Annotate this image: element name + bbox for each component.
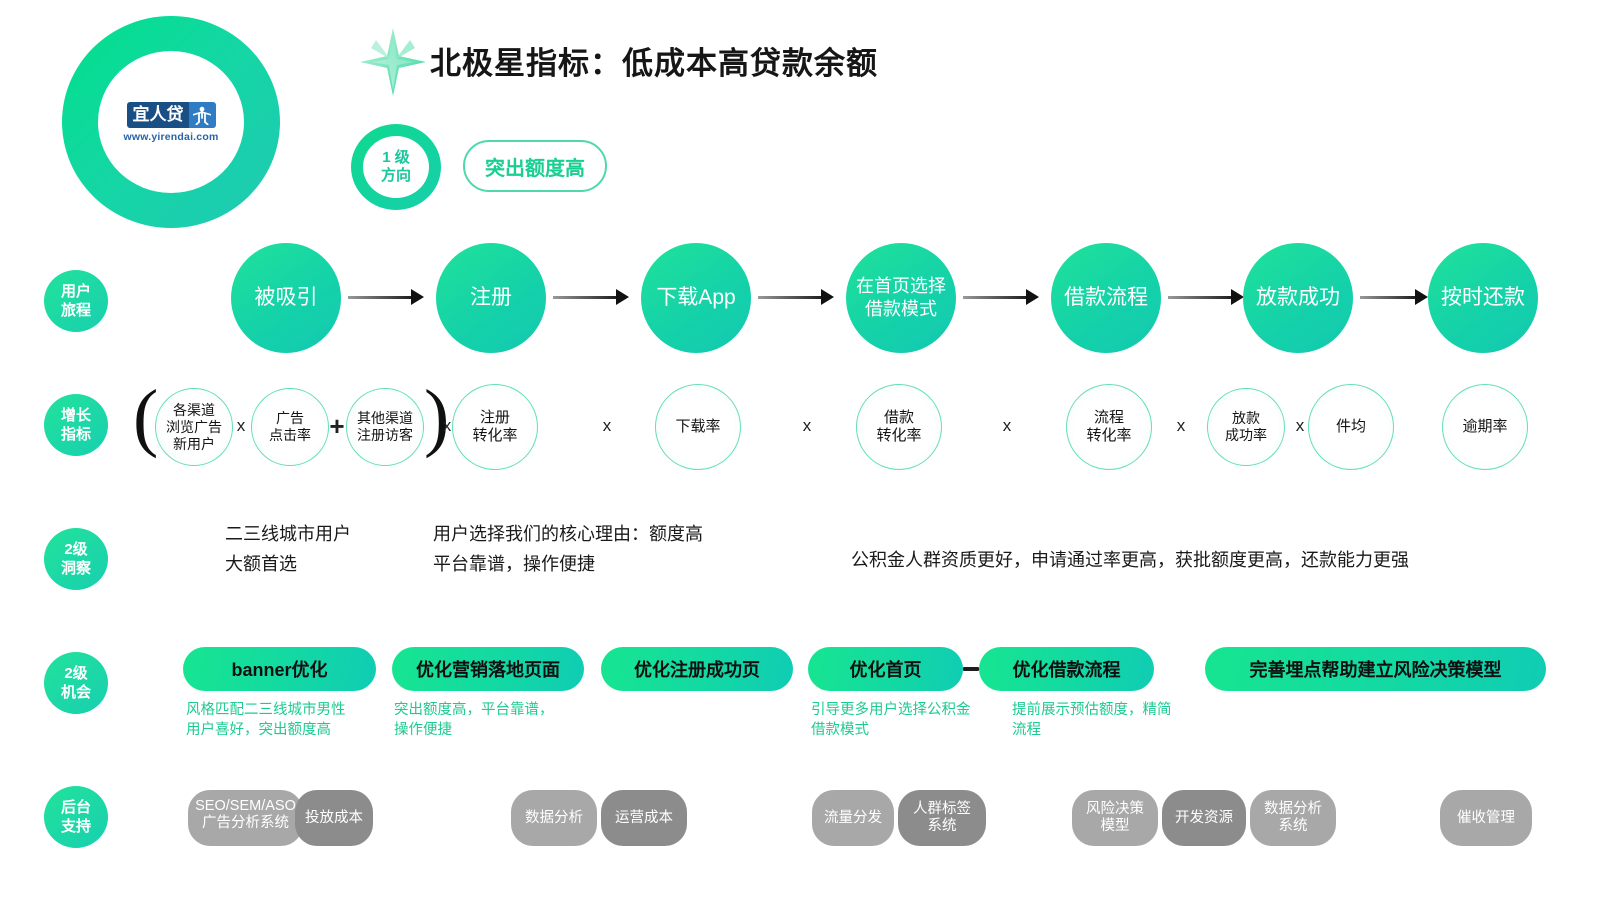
bracket-open: ( [133,386,158,448]
journey-arrow-1 [348,293,424,301]
opportunity-note-1: 风格匹配二三线城市男性 用户喜好，突出额度高 [186,700,386,740]
page-title: 北极星指标：低成本高贷款余额 [430,38,878,83]
support-pill-5[interactable]: 流量分发 [812,790,894,846]
journey-step-1[interactable]: 被吸引 [231,243,341,353]
row-label-journey-line2: 旅程 [61,301,91,320]
growth-metric-10[interactable]: 逾期率 [1442,384,1528,470]
opportunity-connector [963,667,979,671]
growth-metric-2[interactable]: 广告 点击率 [251,388,329,466]
growth-metric-3[interactable]: 其他渠道 注册访客 [346,388,424,466]
level1-direction-badge: 1 级 方向 [351,124,441,210]
infographic-canvas: 宜人贷 www.yirendai.com [0,0,1600,900]
growth-metric-4[interactable]: 注册 转化率 [452,384,538,470]
row-label-insight-line2: 洞察 [61,559,91,578]
person-logo-icon [189,102,216,128]
insight-1: 二三线城市用户 大额首选 [225,519,351,579]
journey-step-6[interactable]: 放款成功 [1243,243,1353,353]
opportunity-pill-4[interactable]: 优化首页 [808,647,963,691]
row-label-support-line1: 后台 [61,798,91,817]
opportunity-pill-3[interactable]: 优化注册成功页 [601,647,793,691]
level1-badge-inner: 1 级 方向 [363,136,429,198]
growth-metric-8[interactable]: 放款 成功率 [1207,388,1285,466]
journey-step-4[interactable]: 在首页选择 借款模式 [846,243,956,353]
journey-step-2[interactable]: 注册 [436,243,546,353]
journey-arrow-5 [1168,293,1244,301]
growth-metric-5[interactable]: 下载率 [655,384,741,470]
row-label-opportunity-line2: 机会 [61,683,91,702]
growth-operator-5: x [800,416,814,436]
row-label-growth: 增长 指标 [44,394,108,456]
journey-arrow-3 [758,293,834,301]
insight-2: 用户选择我们的核心理由：额度高 平台靠谱，操作便捷 [433,519,703,579]
support-pill-4[interactable]: 运营成本 [601,790,687,846]
row-label-opportunity-line1: 2级 [64,664,87,683]
support-pill-2[interactable]: 投放成本 [295,790,373,846]
row-label-journey: 用户 旅程 [44,270,108,332]
growth-operator-2: + [328,416,346,436]
row-label-insight-line1: 2级 [64,540,87,559]
brand-logo-ring: 宜人贷 www.yirendai.com [62,16,280,228]
opportunity-note-4: 引导更多用户选择公积金 借款模式 [811,700,1011,740]
row-label-journey-line1: 用户 [61,282,91,301]
support-pill-7[interactable]: 风险决策 模型 [1072,790,1158,846]
row-label-insight: 2级 洞察 [44,528,108,590]
insight-3: 公积金人群资质更好，申请通过率更高，获批额度更高，还款能力更强 [851,545,1409,575]
opportunity-note-2: 突出额度高，平台靠谱， 操作便捷 [394,700,594,740]
brand-url: www.yirendai.com [123,131,218,143]
opportunity-note-5: 提前展示预估额度，精简 流程 [1012,700,1212,740]
row-label-support-line2: 支持 [61,817,91,836]
growth-operator-4: x [600,416,614,436]
brand-logo-inner: 宜人贷 www.yirendai.com [98,51,244,193]
north-star-icon [358,26,428,98]
opportunity-pill-2[interactable]: 优化营销落地页面 [392,647,584,691]
journey-arrow-4 [963,293,1039,301]
growth-operator-7: x [1174,416,1188,436]
support-pill-8[interactable]: 开发资源 [1162,790,1246,846]
row-label-growth-line2: 指标 [61,425,91,444]
journey-arrow-6 [1360,293,1428,301]
growth-operator-6: x [1000,416,1014,436]
opportunity-pill-5[interactable]: 优化借款流程 [979,647,1154,691]
support-pill-6[interactable]: 人群标签 系统 [898,790,986,846]
row-label-support: 后台 支持 [44,786,108,848]
brand-logo-mark: 宜人贷 [127,102,216,128]
level1-direction-pill[interactable]: 突出额度高 [463,140,607,192]
opportunity-pill-6[interactable]: 完善埋点帮助建立风险决策模型 [1205,647,1546,691]
growth-metric-7[interactable]: 流程 转化率 [1066,384,1152,470]
growth-metric-1[interactable]: 各渠道 浏览广告 新用户 [155,388,233,466]
growth-metric-9[interactable]: 件均 [1308,384,1394,470]
growth-operator-1: x [234,416,248,436]
journey-arrow-2 [553,293,629,301]
growth-metric-6[interactable]: 借款 转化率 [856,384,942,470]
support-pill-10[interactable]: 催收管理 [1440,790,1532,846]
journey-step-7[interactable]: 按时还款 [1428,243,1538,353]
brand-name: 宜人贷 [127,102,189,128]
support-pill-9[interactable]: 数据分析 系统 [1250,790,1336,846]
row-label-growth-line1: 增长 [61,406,91,425]
level1-badge-line1: 1 级 [382,149,410,167]
growth-operator-8: x [1293,416,1307,436]
journey-step-3[interactable]: 下载App [641,243,751,353]
journey-step-5[interactable]: 借款流程 [1051,243,1161,353]
row-label-opportunity: 2级 机会 [44,652,108,714]
support-pill-3[interactable]: 数据分析 [511,790,597,846]
level1-badge-line2: 方向 [381,167,411,185]
opportunity-pill-1[interactable]: banner优化 [183,647,376,691]
